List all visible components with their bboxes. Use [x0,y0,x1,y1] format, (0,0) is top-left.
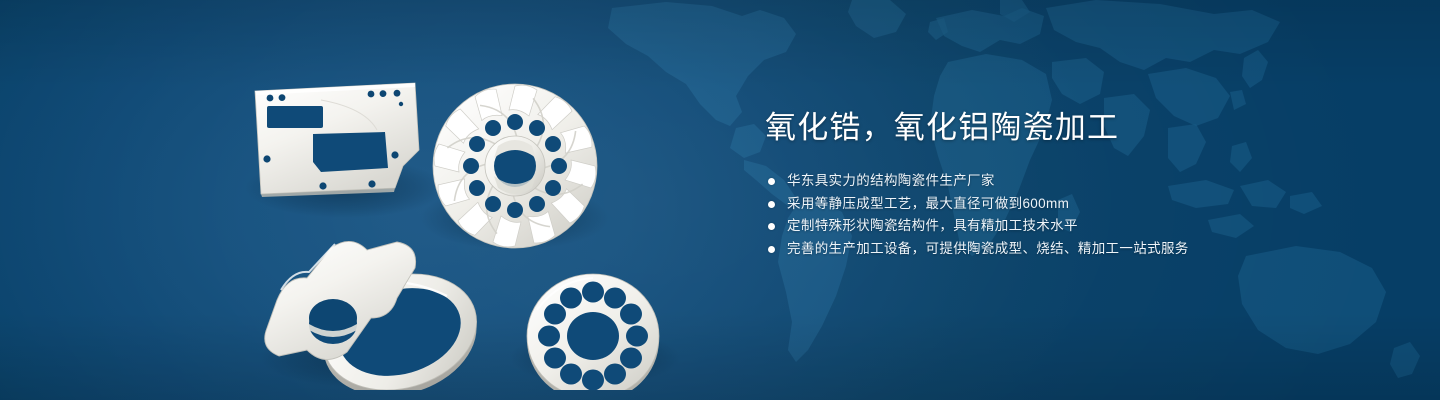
product-photo-group [225,38,705,390]
feature-text: 采用等静压成型工艺，最大直径可做到600mm [787,196,1069,211]
bullet-dot-icon [768,178,775,185]
banner-headline: 氧化锆，氧化铝陶瓷加工 [765,110,1325,146]
banner-copy: 氧化锆，氧化铝陶瓷加工 华东具实力的结构陶瓷件生产厂家 采用等静压成型工艺，最大… [765,110,1325,260]
ceramic-perforated-disc [527,274,659,390]
ceramic-impeller [433,84,597,248]
list-item: 采用等静压成型工艺，最大直径可做到600mm [765,193,1325,216]
feature-list: 华东具实力的结构陶瓷件生产厂家 采用等静压成型工艺，最大直径可做到600mm 定… [765,170,1325,260]
list-item: 完善的生产加工设备，可提供陶瓷成型、烧结、精加工一站式服务 [765,238,1325,261]
feature-text: 华东具实力的结构陶瓷件生产厂家 [787,173,995,188]
list-item: 定制特殊形状陶瓷结构件，具有精加工技术水平 [765,215,1325,238]
bullet-dot-icon [768,223,775,230]
ceramic-machined-plate [255,83,419,197]
feature-text: 定制特殊形状陶瓷结构件，具有精加工技术水平 [787,218,1078,233]
feature-text: 完善的生产加工设备，可提供陶瓷成型、烧结、精加工一站式服务 [787,241,1189,256]
hero-banner: 氧化锆，氧化铝陶瓷加工 华东具实力的结构陶瓷件生产厂家 采用等静压成型工艺，最大… [0,0,1440,400]
list-item: 华东具实力的结构陶瓷件生产厂家 [765,170,1325,193]
bullet-dot-icon [768,246,775,253]
bullet-dot-icon [768,201,775,208]
